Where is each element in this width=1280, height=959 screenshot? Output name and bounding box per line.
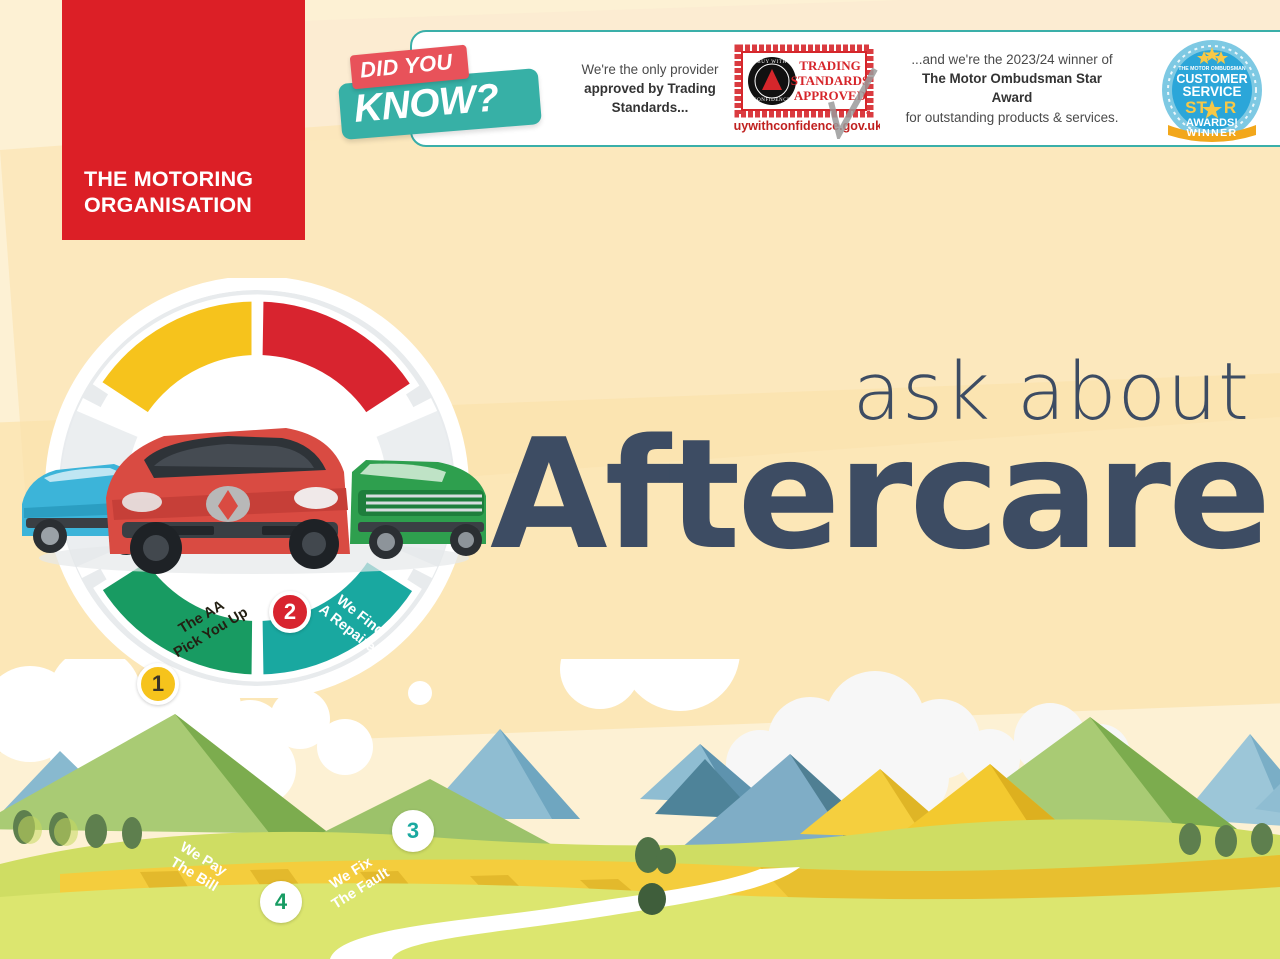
trust-banner: KNOW? DID YOU We're the only provider ap… <box>410 30 1280 147</box>
brand-logo[interactable]: THE MOTORING ORGANISATION <box>62 0 305 240</box>
step-2-number-badge[interactable]: 2 <box>269 591 311 633</box>
car-red-hatchback <box>106 428 350 574</box>
did-you-label: DID YOU <box>359 49 454 84</box>
claim2-line1: ...and we're the 2023/24 winner of <box>904 50 1120 69</box>
claim2-line2: The Motor Ombudsman Star Award <box>922 71 1102 105</box>
cars-illustration <box>14 386 494 576</box>
logo-line-2: ORGANISATION <box>84 192 305 218</box>
trading-standards-approved-stamp: BUY WITH CONFIDENCE TRADING STANDARDS AP… <box>734 44 880 139</box>
stamp-line-1: TRADING <box>799 58 860 73</box>
car-green-suv <box>350 460 486 559</box>
tree-center <box>635 837 661 873</box>
landscape-illustration <box>0 659 1280 959</box>
headline-big: Aftercare <box>490 427 1250 564</box>
stamp-roundel-top: BUY WITH <box>757 60 786 65</box>
did-you-know-badge: KNOW? DID YOU <box>340 48 550 143</box>
stamp-line-2: STANDARDS <box>791 73 870 88</box>
step-4-number-badge[interactable]: 4 <box>260 881 302 923</box>
tree-row-right <box>1179 823 1273 857</box>
claim1-line1: We're the only provider <box>560 59 740 78</box>
cloud-left-far <box>560 659 740 711</box>
claim2-line3: for outstanding products & services. <box>904 108 1120 127</box>
badge-line-2: SERVICE <box>1182 84 1241 99</box>
stamp-roundel-bottom: CONFIDENCE <box>753 98 791 103</box>
tree-center-2 <box>656 848 676 874</box>
claim-star-award: ...and we're the 2023/24 winner of The M… <box>904 50 1120 128</box>
page-title: ask about Aftercare <box>490 355 1250 564</box>
step-1-number-badge[interactable]: 1 <box>137 663 179 705</box>
step-3-number-badge[interactable]: 3 <box>392 810 434 852</box>
tree-foreground <box>638 883 666 915</box>
claim-trading-standards: We're the only provider approved by Trad… <box>560 59 740 117</box>
badge-line-3b: R <box>1224 98 1236 117</box>
aftercare-process-circle: The AA Pick You Up We Find A Repairer We… <box>42 278 472 698</box>
poster-canvas: THE MOTORING ORGANISATION KNOW? DID YOU … <box>0 0 1280 959</box>
badge-ribbon-label: WINNER <box>1187 127 1238 139</box>
logo-line-1: THE MOTORING <box>84 166 305 192</box>
stamp-url: buywithconfidence.gov.uk <box>734 119 880 133</box>
claim1-line3: Standards... <box>612 100 689 115</box>
claim1-line2: approved by Trading <box>584 81 716 96</box>
customer-service-star-awards-badge: THE MOTOR OMBUDSMAN CUSTOMER SERVICE ST … <box>1160 38 1264 142</box>
